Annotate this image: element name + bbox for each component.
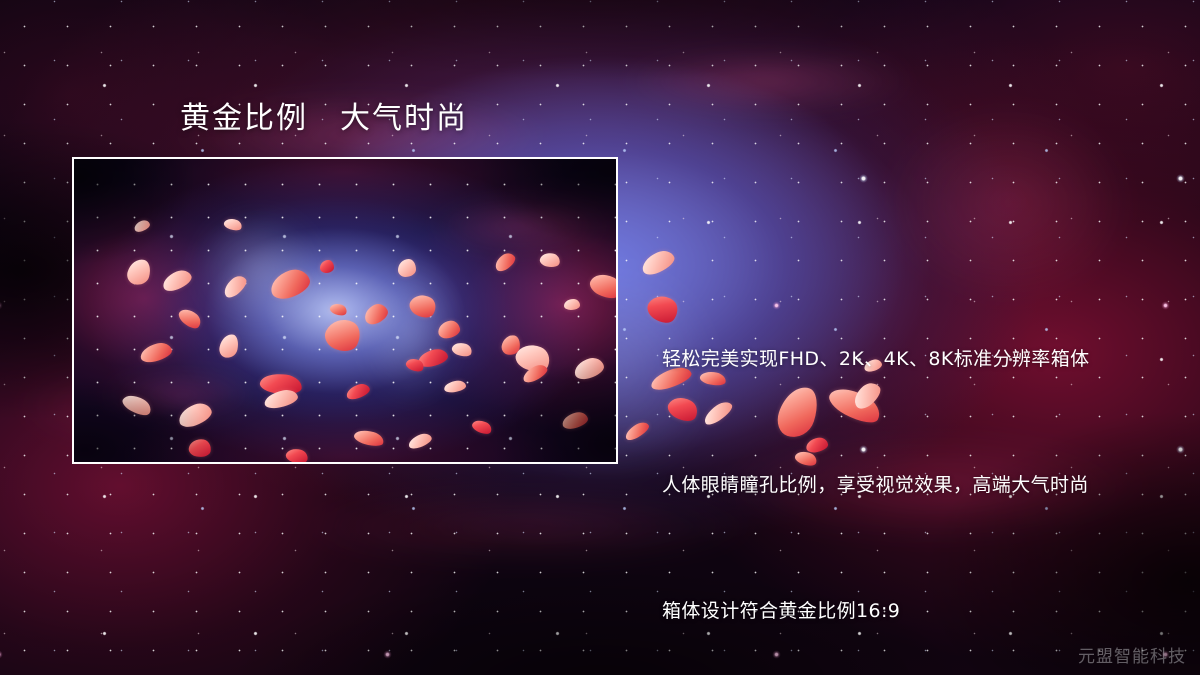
description-line-1: 轻松完美实现FHD、2K、4K、8K标准分辨率箱体 [662, 338, 1090, 380]
description-line-2: 人体眼睛瞳孔比例，享受视觉效果，高端大气时尚 [662, 464, 1090, 506]
framed-image [72, 157, 618, 464]
watermark: 元盟智能科技 [1078, 642, 1186, 667]
page-title: 黄金比例 大气时尚 [180, 101, 468, 137]
description-line-3: 箱体设计符合黄金比例16:9 [662, 590, 1090, 632]
framed-image-vignette [74, 159, 616, 462]
description-text: 轻松完美实现FHD、2K、4K、8K标准分辨率箱体 人体眼睛瞳孔比例，享受视觉效… [662, 254, 1090, 675]
slide-canvas: 黄金比例 大气时尚 轻松完美实现FHD、2K、4K、8K标准分辨率箱体 人体眼睛… [0, 0, 1200, 675]
rose-petal [623, 419, 652, 442]
framed-image-inner [74, 159, 616, 462]
